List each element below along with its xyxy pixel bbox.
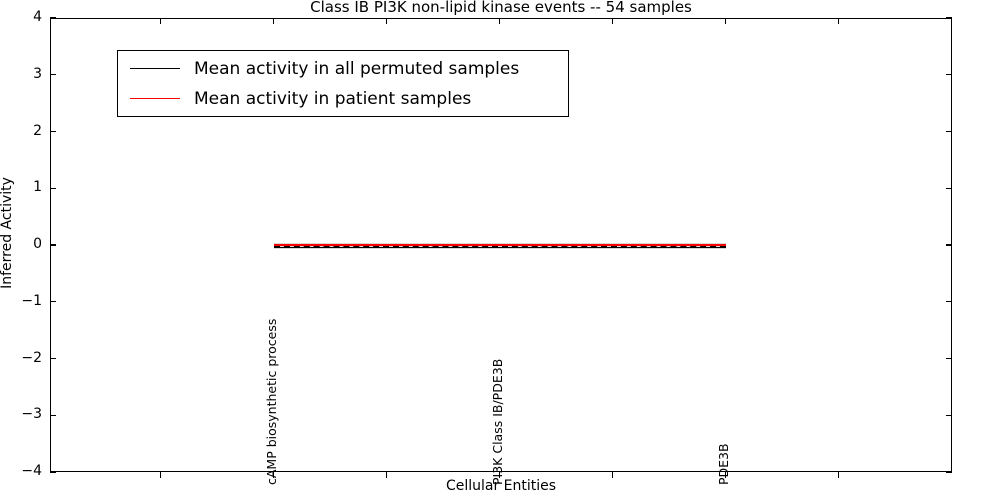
legend-label-permuted: Mean activity in all permuted samples	[194, 58, 519, 80]
legend-swatch-icon-permuted	[130, 68, 180, 69]
x-tick-mark-top	[160, 18, 161, 24]
y-tick-mark	[50, 244, 56, 245]
chart-title: Class IB PI3K non-lipid kinase events --…	[50, 0, 952, 16]
y-tick-label: 2	[0, 124, 42, 139]
series-line-permuted	[274, 246, 726, 248]
y-tick-label: 3	[0, 67, 42, 82]
y-tick-mark	[50, 301, 56, 302]
y-tick-mark	[50, 415, 56, 416]
x-tick-mark	[160, 472, 161, 478]
y-tick-label: 0	[0, 237, 42, 252]
x-tick-mark-top	[838, 18, 839, 24]
y-tick-mark	[50, 74, 56, 75]
x-category-label: cAMP biosynthetic process	[265, 319, 278, 485]
y-tick-mark-right	[946, 131, 952, 132]
y-tick-mark-right	[946, 17, 952, 18]
y-tick-mark	[50, 17, 56, 18]
y-tick-label: 1	[0, 180, 42, 195]
x-category-label: PDE3B	[717, 443, 730, 485]
x-tick-mark-top	[499, 18, 500, 24]
y-tick-label: −1	[0, 294, 42, 309]
y-tick-mark	[50, 358, 56, 359]
y-tick-mark-right	[946, 244, 952, 245]
x-tick-mark-top	[386, 18, 387, 24]
x-tick-mark	[386, 472, 387, 478]
y-tick-mark	[50, 471, 56, 472]
y-tick-label: 4	[0, 10, 42, 25]
y-tick-mark-right	[946, 74, 952, 75]
y-tick-mark	[50, 131, 56, 132]
x-tick-mark	[612, 472, 613, 478]
x-tick-mark-top	[612, 18, 613, 24]
legend-label-patient: Mean activity in patient samples	[194, 88, 471, 110]
legend-item-permuted: Mean activity in all permuted samples	[118, 55, 570, 83]
y-tick-mark	[50, 188, 56, 189]
y-tick-mark-right	[946, 471, 952, 472]
y-tick-mark-right	[946, 188, 952, 189]
y-tick-label: −4	[0, 464, 42, 479]
x-tick-mark	[838, 472, 839, 478]
x-category-label: PI3K Class IB/PDE3B	[491, 359, 504, 485]
y-tick-label: −2	[0, 351, 42, 366]
x-tick-mark-top	[273, 18, 274, 24]
legend: Mean activity in all permuted samples Me…	[117, 50, 569, 117]
x-tick-mark-top	[725, 18, 726, 24]
legend-swatch-icon-patient	[130, 98, 180, 99]
y-tick-mark-right	[946, 301, 952, 302]
legend-item-patient: Mean activity in patient samples	[118, 85, 570, 113]
figure-canvas: Class IB PI3K non-lipid kinase events --…	[0, 0, 1000, 500]
y-tick-mark-right	[946, 358, 952, 359]
y-tick-label: −3	[0, 407, 42, 422]
y-tick-mark-right	[946, 415, 952, 416]
